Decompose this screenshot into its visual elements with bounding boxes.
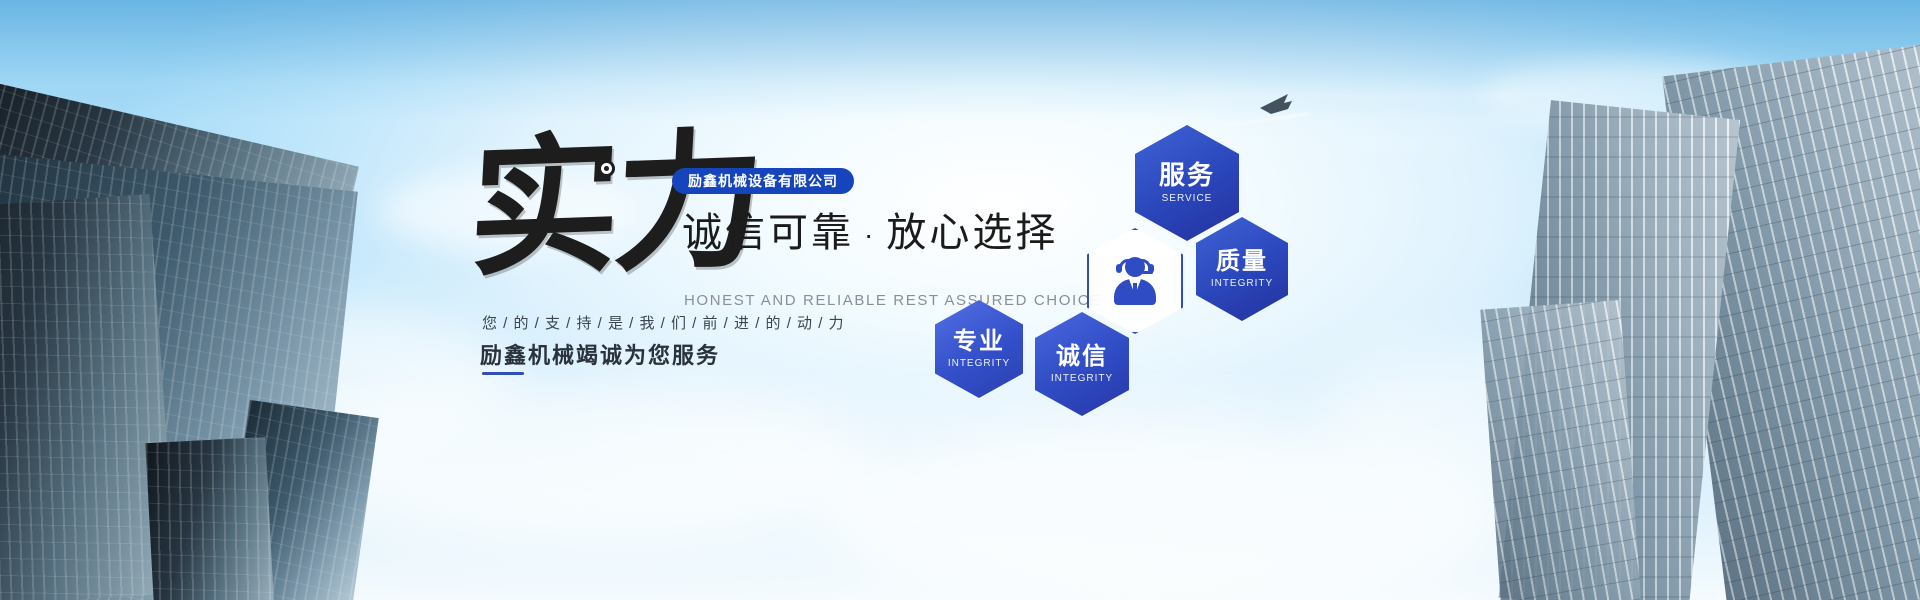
- hex-label-en: INTEGRITY: [1211, 278, 1273, 289]
- hex-label-en: INTEGRITY: [948, 358, 1010, 369]
- customer-service-agent-icon: [1087, 228, 1183, 334]
- agent-figure: [1108, 253, 1162, 309]
- hex-badge-integrity[interactable]: 诚信 INTEGRITY: [1035, 312, 1129, 416]
- hex-label-cn: 诚信: [1056, 344, 1108, 369]
- hex-badge-quality[interactable]: 质量 INTEGRITY: [1196, 217, 1288, 321]
- hex-label-cn: 质量: [1216, 249, 1268, 274]
- promo-banner: 实力 励鑫机械设备有限公司 诚信可靠·放心选择 HONEST AND RELIA…: [0, 0, 1920, 600]
- hexagon-cluster: 服务 SERVICE 质量 INTEGRITY 专业 INTEGRITY 诚信 …: [0, 0, 1920, 600]
- hex-label-cn: 服务: [1159, 162, 1215, 189]
- hex-badge-professional[interactable]: 专业 INTEGRITY: [935, 300, 1023, 398]
- hex-label-en: SERVICE: [1162, 193, 1213, 204]
- hex-badge-service[interactable]: 服务 SERVICE: [1135, 125, 1239, 241]
- hex-label-en: INTEGRITY: [1051, 373, 1113, 384]
- hex-label-cn: 专业: [953, 329, 1005, 354]
